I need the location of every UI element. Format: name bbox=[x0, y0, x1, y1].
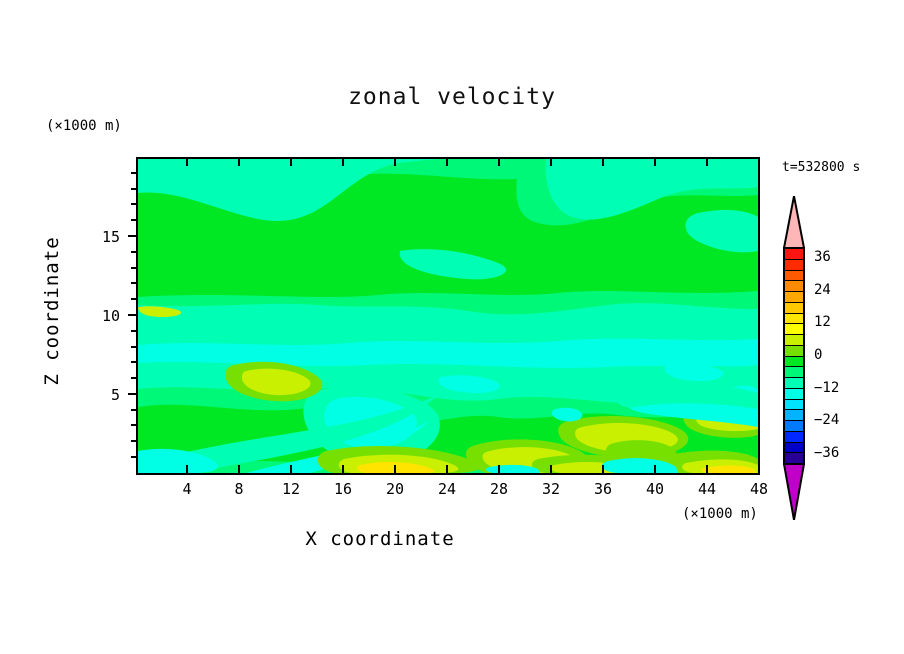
colorbar-swatch bbox=[785, 410, 803, 421]
y-tick-minor bbox=[131, 219, 138, 221]
colorbar-swatch bbox=[785, 357, 803, 368]
x-tick-label: 32 bbox=[531, 480, 571, 498]
colorbar-swatch bbox=[785, 389, 803, 400]
colorbar-tick-label: 12 bbox=[814, 314, 831, 330]
y-tick-minor bbox=[131, 251, 138, 253]
colorbar-swatch bbox=[785, 260, 803, 271]
colorbar-swatch bbox=[785, 453, 803, 463]
colorbar-swatch bbox=[785, 432, 803, 443]
y-axis-units-label: (×1000 m) bbox=[46, 118, 122, 134]
x-tick-top bbox=[238, 157, 240, 166]
page-title: zonal velocity bbox=[0, 84, 904, 110]
x-tick-label: 28 bbox=[479, 480, 519, 498]
x-tick-top bbox=[186, 157, 188, 166]
x-tick-major bbox=[602, 465, 604, 475]
x-tick-major bbox=[342, 465, 344, 475]
contour-plot-area[interactable] bbox=[136, 157, 760, 475]
x-tick-top bbox=[446, 157, 448, 166]
colorbar-swatch bbox=[785, 443, 803, 454]
colorbar-swatch bbox=[785, 421, 803, 432]
x-tick-top bbox=[342, 157, 344, 166]
x-tick-top bbox=[654, 157, 656, 166]
contour-field bbox=[138, 159, 758, 473]
x-tick-top bbox=[394, 157, 396, 166]
x-tick-label: 24 bbox=[427, 480, 467, 498]
timestamp-annotation: t=532800 s bbox=[782, 160, 860, 175]
x-tick-major bbox=[238, 465, 240, 475]
y-tick-minor bbox=[131, 346, 138, 348]
x-tick-major bbox=[498, 465, 500, 475]
x-tick-label: 20 bbox=[375, 480, 415, 498]
y-tick-minor bbox=[131, 172, 138, 174]
y-tick-minor bbox=[131, 456, 138, 458]
x-tick-top bbox=[706, 157, 708, 166]
colorbar-swatch bbox=[785, 346, 803, 357]
x-tick-label: 12 bbox=[271, 480, 311, 498]
colorbar-tick-label: −36 bbox=[814, 445, 839, 461]
x-tick-label: 8 bbox=[219, 480, 259, 498]
colorbar-swatch bbox=[785, 400, 803, 411]
y-tick-minor bbox=[131, 203, 138, 205]
y-tick-label: 15 bbox=[86, 228, 120, 246]
x-tick-label: 44 bbox=[687, 480, 727, 498]
y-tick-minor bbox=[131, 377, 138, 379]
x-tick-top bbox=[290, 157, 292, 166]
x-tick-major bbox=[446, 465, 448, 475]
colorbar-swatch bbox=[785, 271, 803, 282]
x-tick-label: 16 bbox=[323, 480, 363, 498]
colorbar-swatch bbox=[785, 249, 803, 260]
y-tick-minor bbox=[131, 188, 138, 190]
colorbar-tick-label: 24 bbox=[814, 282, 831, 298]
y-tick-minor bbox=[131, 267, 138, 269]
colorbar-tick-label: 0 bbox=[814, 347, 822, 363]
y-tick-minor bbox=[131, 330, 138, 332]
x-tick-major bbox=[290, 465, 292, 475]
y-tick-label: 10 bbox=[86, 307, 120, 325]
x-tick-major bbox=[654, 465, 656, 475]
x-tick-major bbox=[758, 465, 760, 475]
x-tick-major bbox=[394, 465, 396, 475]
y-tick-minor bbox=[131, 440, 138, 442]
colorbar-swatch bbox=[785, 367, 803, 378]
x-axis-units-label: (×1000 m) bbox=[682, 506, 758, 522]
colorbar-swatch bbox=[785, 303, 803, 314]
x-tick-major bbox=[706, 465, 708, 475]
y-tick-minor bbox=[131, 424, 138, 426]
y-tick-minor bbox=[131, 298, 138, 300]
colorbar-swatch bbox=[785, 281, 803, 292]
colorbar-swatch bbox=[785, 335, 803, 346]
y-tick-major bbox=[128, 235, 138, 237]
x-tick-top bbox=[602, 157, 604, 166]
x-tick-top bbox=[498, 157, 500, 166]
x-tick-label: 4 bbox=[167, 480, 207, 498]
x-tick-major bbox=[186, 465, 188, 475]
colorbar-tick-label: −12 bbox=[814, 380, 839, 396]
x-tick-top bbox=[550, 157, 552, 166]
colorbar-under-arrow bbox=[783, 464, 805, 520]
x-tick-top bbox=[758, 157, 760, 166]
colorbar[interactable]: 3624120−12−24−36 bbox=[778, 196, 810, 520]
colorbar-swatch bbox=[785, 292, 803, 303]
colorbar-swatch bbox=[785, 324, 803, 335]
colorbar-swatch bbox=[785, 314, 803, 325]
colorbar-tick-label: 36 bbox=[814, 249, 831, 265]
y-tick-label: 5 bbox=[86, 386, 120, 404]
x-tick-major bbox=[550, 465, 552, 475]
x-tick-label: 48 bbox=[739, 480, 779, 498]
colorbar-swatches[interactable] bbox=[783, 247, 805, 465]
y-tick-major bbox=[128, 314, 138, 316]
y-tick-minor bbox=[131, 361, 138, 363]
y-tick-minor bbox=[131, 282, 138, 284]
x-axis-title: X coordinate bbox=[0, 528, 760, 550]
colorbar-over-arrow bbox=[783, 196, 805, 248]
colorbar-swatch bbox=[785, 378, 803, 389]
y-axis-title: Z coordinate bbox=[41, 221, 63, 401]
x-tick-label: 36 bbox=[583, 480, 623, 498]
y-tick-minor bbox=[131, 409, 138, 411]
colorbar-tick-label: −24 bbox=[814, 412, 839, 428]
y-tick-major bbox=[128, 393, 138, 395]
x-tick-label: 40 bbox=[635, 480, 675, 498]
